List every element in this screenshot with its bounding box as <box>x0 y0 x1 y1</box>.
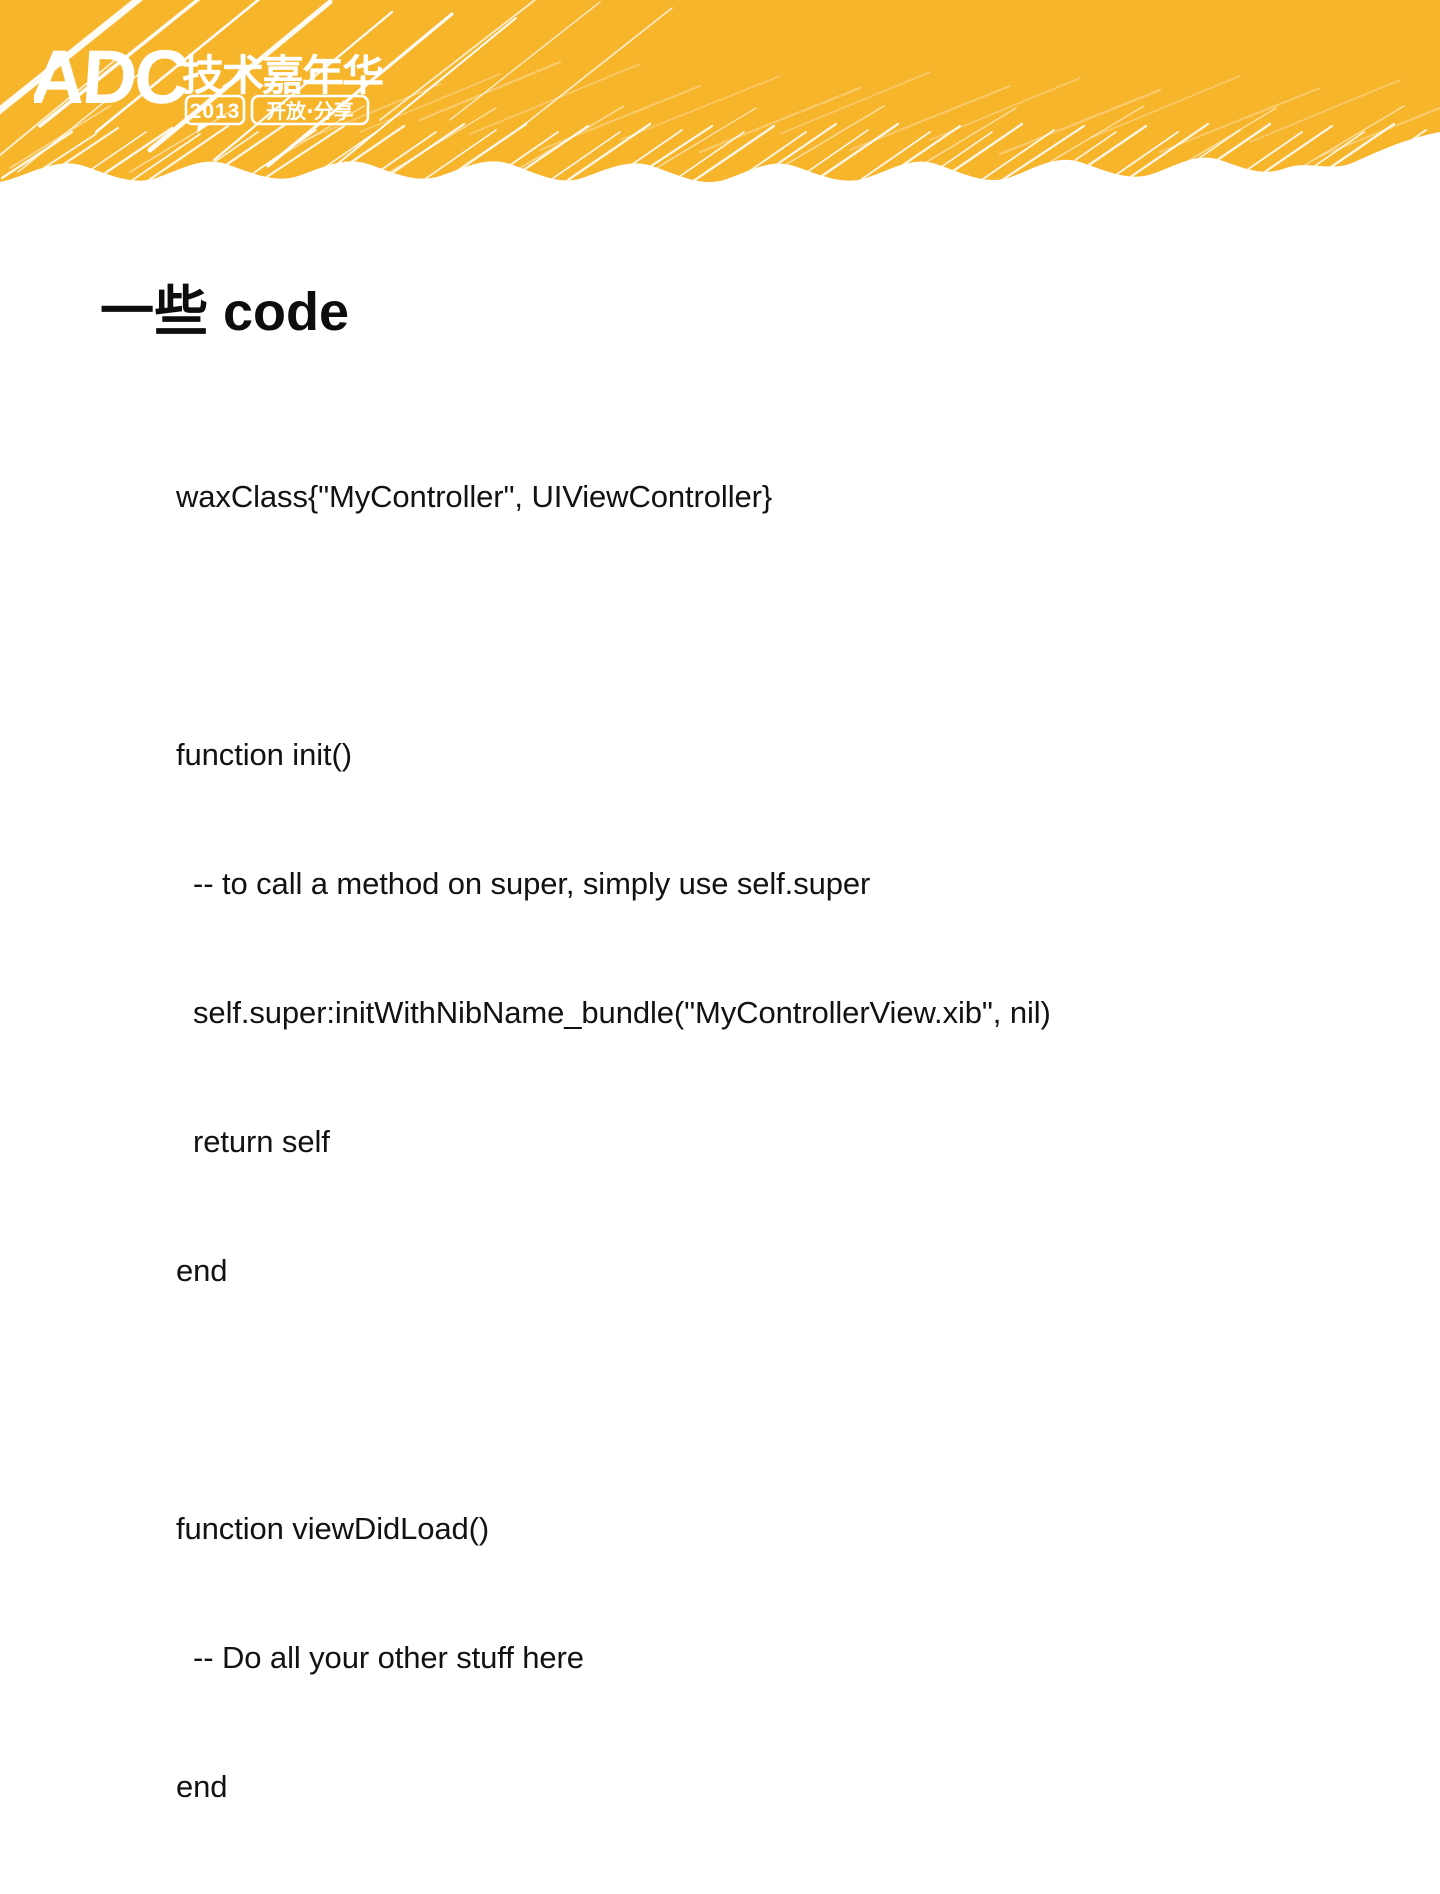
banner-graphic <box>0 0 1440 200</box>
header-banner: ADC 技术嘉年华 2013 开放·分享 <box>0 0 1440 200</box>
banner-band <box>0 0 1440 200</box>
code-line: end <box>176 1765 1296 1808</box>
page-title: 一些 code <box>100 283 349 341</box>
slide-root: ADC 技术嘉年华 2013 开放·分享 一些 co <box>0 0 1440 1080</box>
code-line: self.super:initWithNibName_bundle("MyCon… <box>176 991 1296 1034</box>
code-line: waxClass{"MyController", UIViewControlle… <box>176 475 1296 518</box>
code-line: -- Do all your other stuff here <box>176 1636 1296 1679</box>
code-line: return self <box>176 1120 1296 1163</box>
code-block: waxClass{"MyController", UIViewControlle… <box>176 389 1296 1894</box>
code-line: function viewDidLoad() <box>176 1507 1296 1550</box>
code-line: end <box>176 1249 1296 1292</box>
code-line <box>176 1378 1296 1421</box>
code-line: -- to call a method on super, simply use… <box>176 862 1296 905</box>
code-line <box>176 604 1296 647</box>
code-line: function init() <box>176 733 1296 776</box>
